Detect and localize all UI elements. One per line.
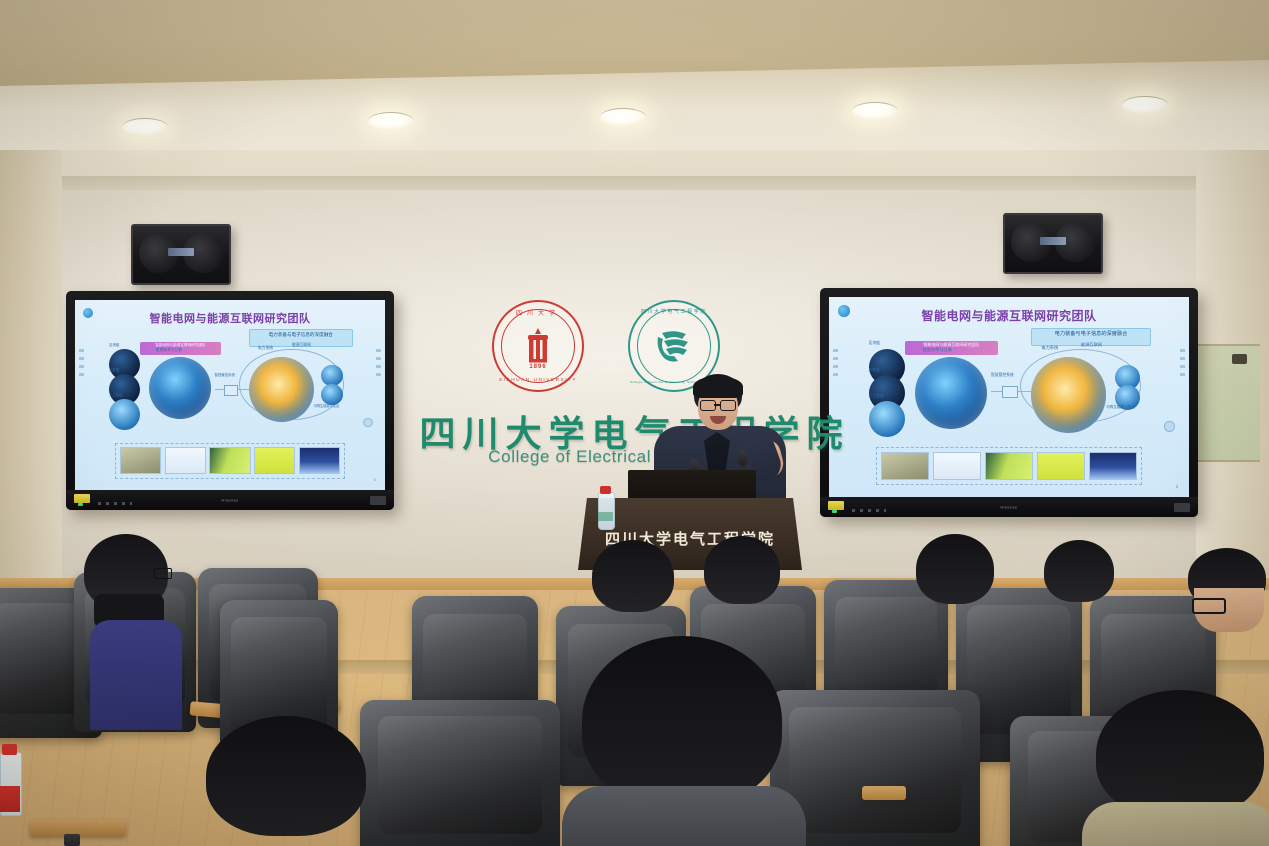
slide-side-markers-right <box>1180 349 1185 376</box>
college-emblem-icon <box>652 327 696 365</box>
slide-label-smart-control: 智慧管控系统 <box>991 373 1014 378</box>
presenter-glasses-bridge <box>714 404 720 406</box>
university-emblem-icon <box>522 326 554 364</box>
attendee-hair <box>592 540 674 612</box>
attendee <box>1188 548 1269 640</box>
display-control-keys[interactable] <box>98 502 132 505</box>
display-power-led-icon <box>832 510 837 513</box>
display-sticker <box>828 501 844 510</box>
water-bottle-label <box>598 512 613 521</box>
display-brand-label: Hisense <box>221 498 238 503</box>
water-bottle-cap <box>600 486 611 494</box>
seal-chinese-top: 四川大学 <box>492 308 584 317</box>
water-bottle <box>598 492 615 530</box>
speaker-brand-badge <box>168 248 194 256</box>
left-presentation-display[interactable]: 智能电网与能源互联网研究团队 智能电网与能源互联网研究团队 电力装备与电子信息的… <box>66 291 394 510</box>
slide-title: 智能电网与能源互联网研究团队 <box>829 307 1189 324</box>
attendee <box>586 540 682 630</box>
attendee-hair <box>1044 540 1114 602</box>
slide-page-number: 3 <box>373 477 375 482</box>
slide-label-energy-internet: 能源互联网 <box>292 343 311 348</box>
microphone-head-icon <box>738 450 747 466</box>
attendee <box>196 716 386 846</box>
attendee-hair <box>206 716 366 836</box>
attendee <box>72 534 202 734</box>
seal-chinese-arc: 四川大学电气工程学院 <box>628 308 720 315</box>
speaker-brand-badge <box>1040 237 1066 245</box>
right-display-bezel: Hisense <box>820 497 1198 517</box>
attendee-glasses <box>154 568 172 579</box>
attendee <box>560 636 810 846</box>
attendee <box>1082 690 1269 846</box>
ceiling-downlight-4 <box>852 102 898 120</box>
slide-side-markers-left <box>79 349 84 376</box>
floor-water-bottle-label <box>0 786 20 812</box>
slide-connector-box <box>1002 386 1018 398</box>
attendee <box>910 534 1002 622</box>
slide-side-markers-right <box>376 349 381 376</box>
display-power-led-icon <box>78 503 83 506</box>
attendee-shoulders <box>1082 802 1269 846</box>
attendee-hair <box>916 534 994 604</box>
slide-title: 智能电网与能源互联网研究团队 <box>75 310 385 326</box>
wall-speaker-left <box>131 224 231 285</box>
attendee <box>1040 540 1118 620</box>
ceiling-downlight-1 <box>122 118 168 136</box>
slide-label-info-tech: 信息技术与互联 <box>156 348 183 353</box>
slide-label-ai: 人工智能 <box>109 392 123 397</box>
attendee-hair <box>704 536 780 604</box>
presenter-glasses-left-lens <box>700 400 716 411</box>
attendee-hair <box>582 636 782 806</box>
right-presentation-display[interactable]: 智能电网与能源互联网研究团队 智能电网与能源互联网研究团队 电力装备与电子信息的… <box>820 288 1198 517</box>
slide-label-bigdata: 大数据 <box>109 367 119 372</box>
wall-fixture-icon <box>1232 354 1247 364</box>
slide-label-blockchain: 区块链 <box>109 342 119 347</box>
podium-desktop <box>628 470 756 502</box>
seal-founding-year: 1896 <box>492 364 584 370</box>
floor-water-bottle-cap <box>2 744 17 755</box>
slide-page-number: 3 <box>1176 484 1178 489</box>
attendee-hair <box>1096 690 1264 818</box>
attendee-shoulders <box>562 786 806 846</box>
slide-label-energy-internet: 能源互联网 <box>1081 342 1102 348</box>
display-ir-receiver-icon <box>370 496 386 505</box>
slide-label-ai: 人工智能 <box>869 394 884 399</box>
attendee-jacket <box>90 620 182 730</box>
left-display-bezel: Hisense <box>66 490 394 510</box>
ceiling-downlight-3 <box>600 108 646 126</box>
seat <box>360 700 560 846</box>
slide-label-smart-control: 智慧管控系统 <box>215 372 235 377</box>
display-control-keys[interactable] <box>852 509 886 512</box>
wall-sign-english: College of Electrical Engineering, Si <box>0 447 1269 467</box>
attendee <box>700 536 786 622</box>
slide-label-power-system: 电力系统 <box>1041 345 1058 351</box>
slide-label-blockchain: 区块链 <box>869 341 880 346</box>
slide-label-info-tech: 信息技术与互联 <box>923 347 952 353</box>
left-wall-return <box>0 150 62 620</box>
attendee-glasses <box>1192 598 1226 614</box>
slide-label-power-system: 电力系统 <box>258 346 273 351</box>
seat-arm-post <box>64 834 80 846</box>
display-ir-receiver-icon <box>1174 503 1190 512</box>
wall-speaker-right <box>1003 213 1103 274</box>
ceiling-downlight-2 <box>368 112 414 130</box>
presenter-glasses-right-lens <box>720 400 736 411</box>
ceiling-downlight-5 <box>1122 96 1168 114</box>
slide-side-markers-left <box>833 349 838 376</box>
display-brand-label: Hisense <box>1000 505 1017 510</box>
right-screen-surface: 智能电网与能源互联网研究团队 智能电网与能源互联网研究团队 电力装备与电子信息的… <box>829 297 1189 497</box>
slide-label-bigdata: 大数据 <box>869 368 880 373</box>
seal-english-arc: SICHUAN UNIVERSITY <box>492 377 584 382</box>
seat-tablet-arm[interactable] <box>862 786 906 800</box>
slide-connector-box <box>224 385 238 397</box>
display-sticker <box>74 494 90 503</box>
presenter-hair-top <box>693 376 743 398</box>
lecture-hall-photo: 智能电网与能源互联网研究团队 智能电网与能源互联网研究团队 电力装备与电子信息的… <box>0 0 1269 846</box>
sichuan-university-seal: 四川大学 1896 SICHUAN UNIVERSITY <box>492 300 584 392</box>
